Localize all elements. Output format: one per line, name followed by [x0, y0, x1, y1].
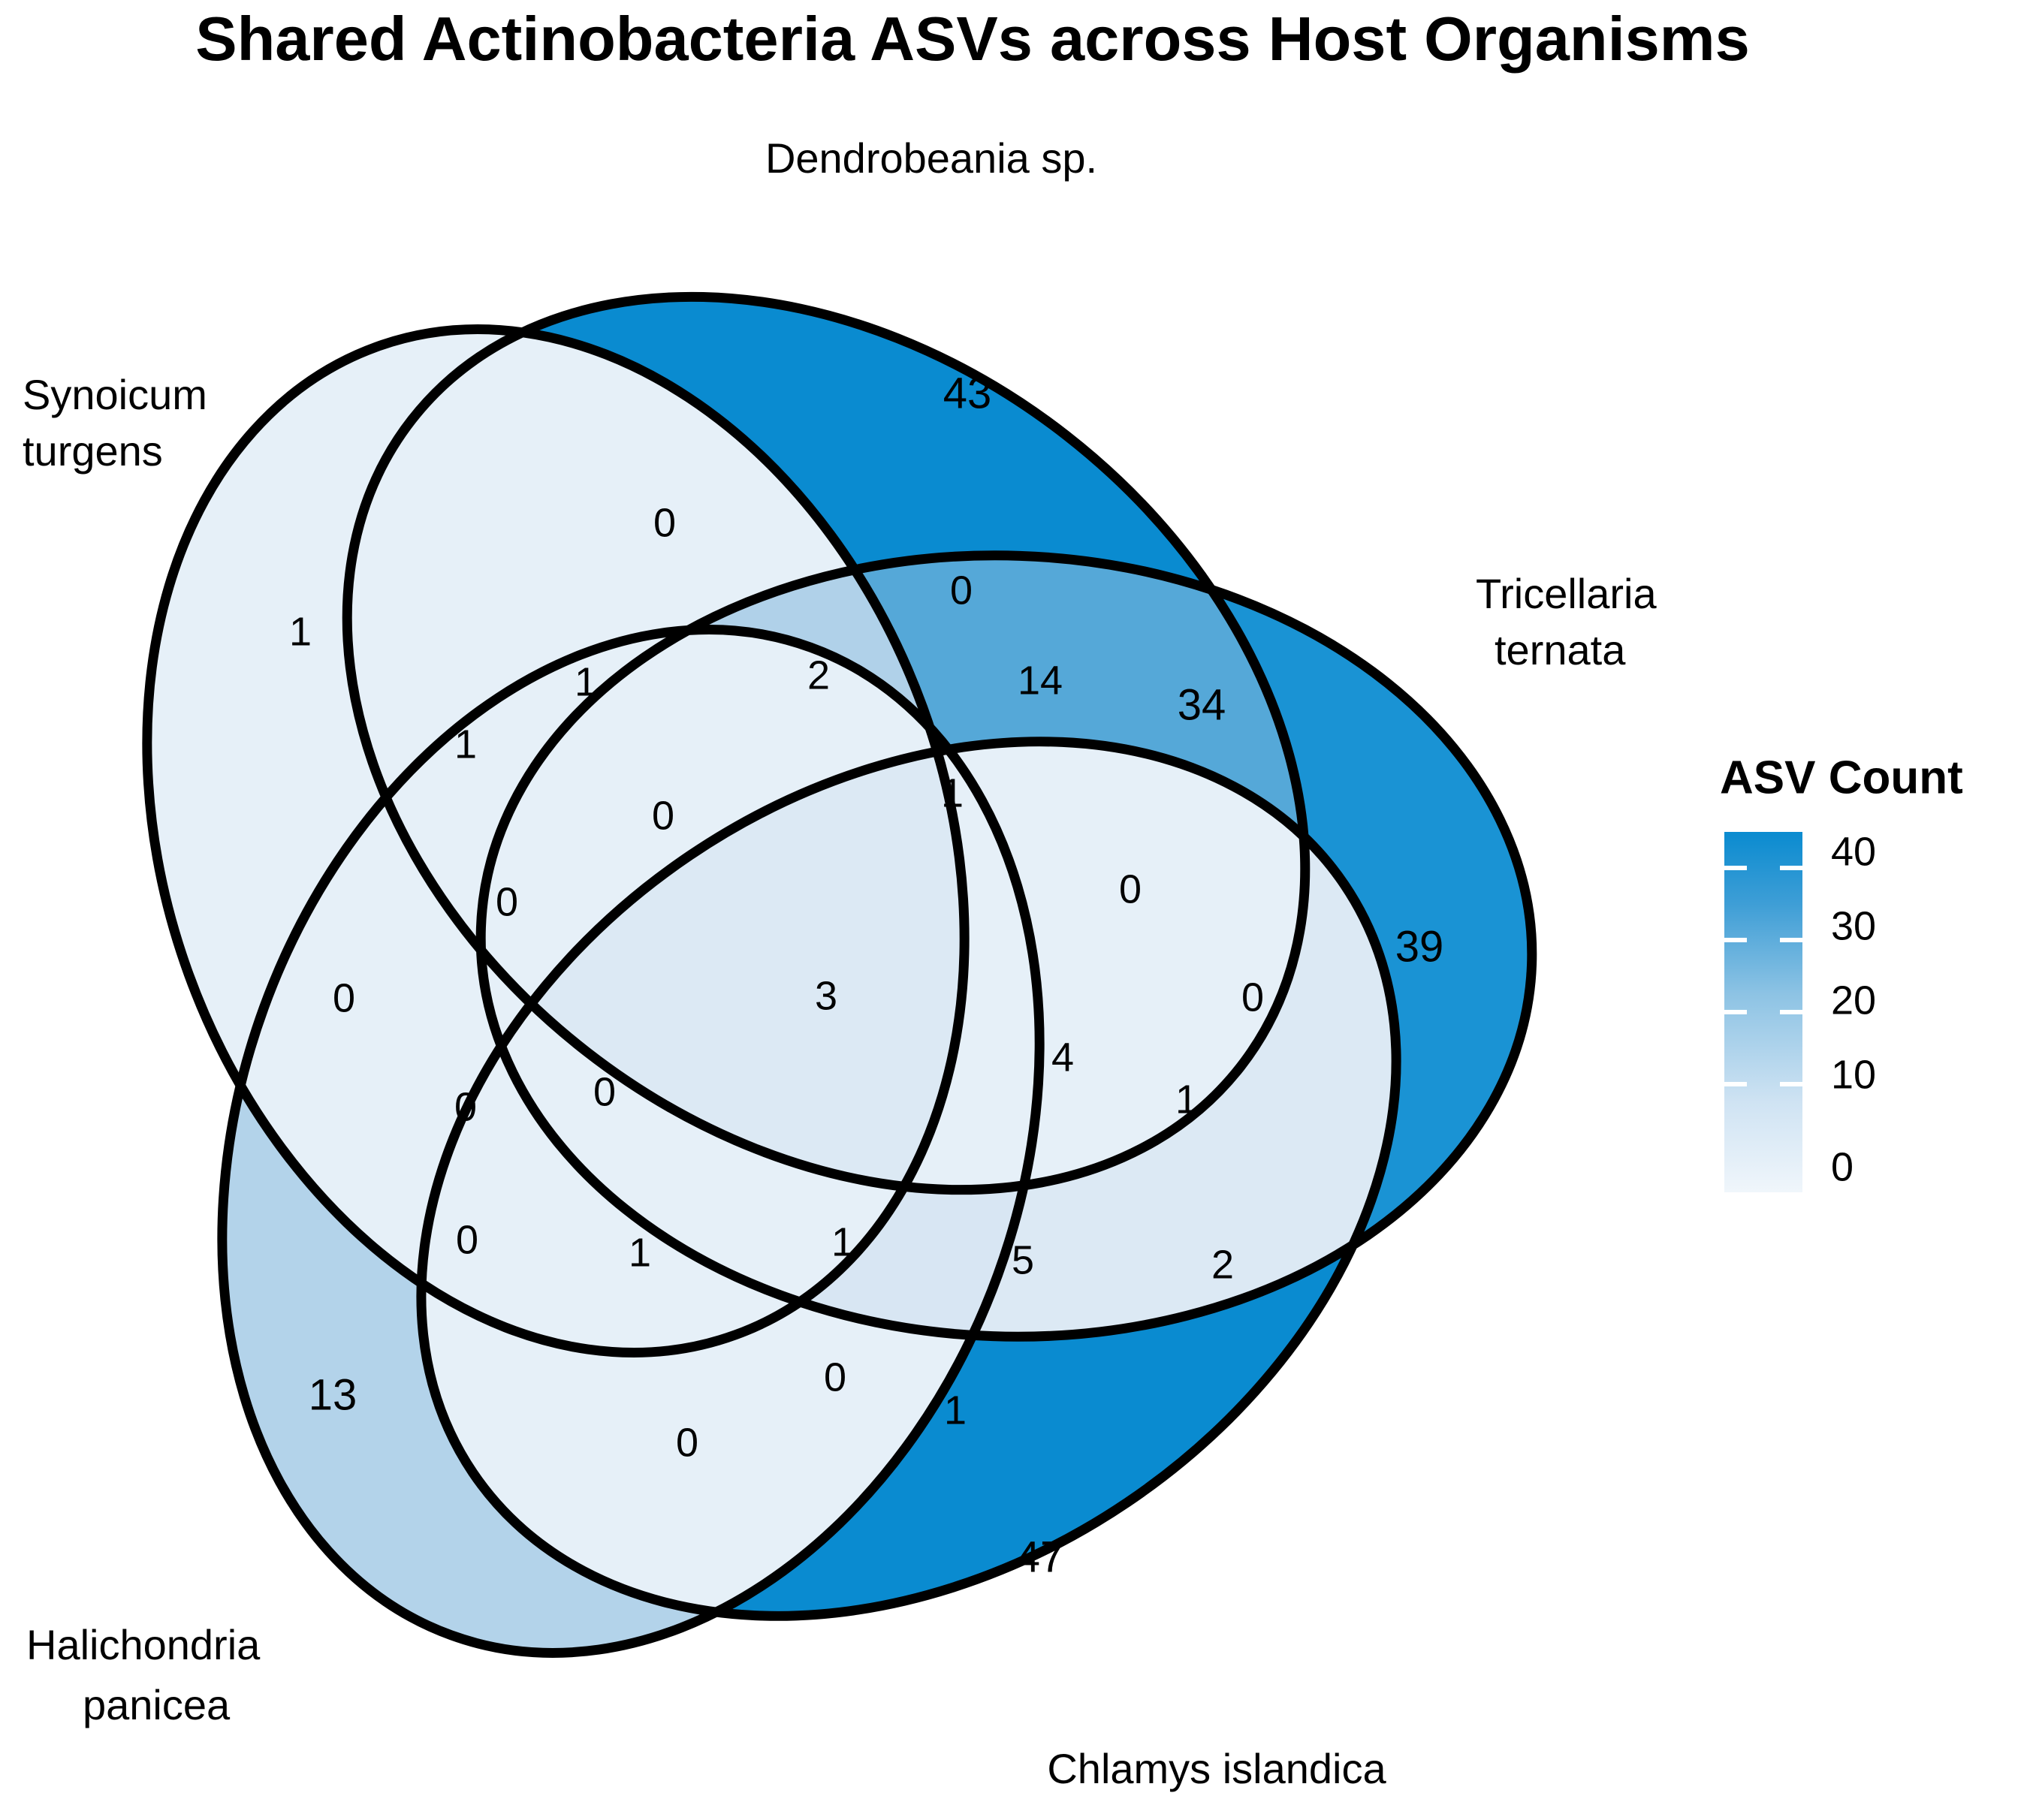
count-39-tricellaria-only: 39 [1395, 922, 1444, 971]
count-0-den-tri-top: 0 [950, 568, 973, 613]
count-0-hal-syn: 0 [333, 975, 355, 1020]
legend-tick-40: 40 [1831, 829, 1876, 874]
count-2-tri-chl: 2 [1211, 1242, 1234, 1287]
venn-svg-canvas: Shared Actinobacteria ASVs across Host O… [0, 0, 2033, 1820]
count-0-left-mid: 0 [454, 1084, 477, 1129]
count-1-tri-chl-hal-syn: 1 [831, 1219, 854, 1264]
count-0-syn-den: 0 [653, 500, 676, 545]
venn-diagram-figure: Shared Actinobacteria ASVs across Host O… [0, 0, 2033, 1820]
count-0-chl-hal-syn-den: 0 [824, 1354, 846, 1400]
count-5-tri-chl-hal: 5 [1012, 1237, 1034, 1282]
count-1-bottom-right: 1 [944, 1388, 967, 1433]
count-0-chl-hal-syn: 0 [456, 1217, 478, 1262]
set-label-chlamys: Chlamys islandica [1047, 1745, 1386, 1792]
count-13-halichondria-only: 13 [309, 1370, 357, 1419]
count-2-syn-tri: 2 [807, 652, 830, 698]
legend-tick-0: 0 [1831, 1144, 1854, 1189]
count-43-dendrobeania-only: 43 [943, 369, 992, 417]
set-label-dendrobeania: Dendrobeania sp. [765, 134, 1097, 182]
count-0-tri-chl-syn: 0 [1241, 975, 1264, 1020]
count-14-syn-den-tri: 14 [1018, 658, 1063, 703]
count-0-hal-syn-tri: 0 [593, 1069, 616, 1114]
legend: ASV Count 40 30 20 10 0 [1720, 752, 1963, 1192]
count-0-center-upper: 0 [652, 793, 674, 838]
legend-tick-10: 10 [1831, 1052, 1876, 1097]
set-label-tricellaria-line2: ternata [1495, 626, 1626, 673]
count-1-chl-hal-den: 1 [629, 1230, 651, 1275]
set-label-synoicum-line1: Synoicum [23, 371, 207, 418]
legend-title: ASV Count [1720, 752, 1963, 803]
count-1-den-tri-chl: 1 [941, 770, 964, 815]
count-34-den-tri: 34 [1178, 680, 1226, 729]
count-3-all-five: 3 [815, 973, 837, 1018]
count-1-den-tri-chl-hal: 1 [1175, 1077, 1198, 1122]
set-label-synoicum-line2: turgens [23, 427, 163, 475]
count-4-den-tri-hal: 4 [1051, 1035, 1074, 1080]
count-1-inner-left-a: 1 [575, 659, 597, 704]
set-label-halichondria-line2: panicea [83, 1681, 231, 1728]
count-0-hal-syn-den: 0 [496, 879, 518, 924]
count-47-chlamys-only: 47 [1016, 1532, 1065, 1581]
count-1-synoicum-only: 1 [289, 609, 312, 654]
count-1-inner-left-b: 1 [454, 722, 477, 767]
set-label-halichondria-line1: Halichondria [26, 1621, 261, 1668]
page-title: Shared Actinobacteria ASVs across Host O… [195, 4, 1750, 74]
set-label-tricellaria-line1: Tricellaria [1476, 570, 1657, 617]
count-0-chl-hal: 0 [676, 1420, 698, 1465]
legend-tick-20: 20 [1831, 978, 1876, 1023]
count-0-tri-hal: 0 [1119, 866, 1142, 912]
legend-tick-30: 30 [1831, 903, 1876, 948]
